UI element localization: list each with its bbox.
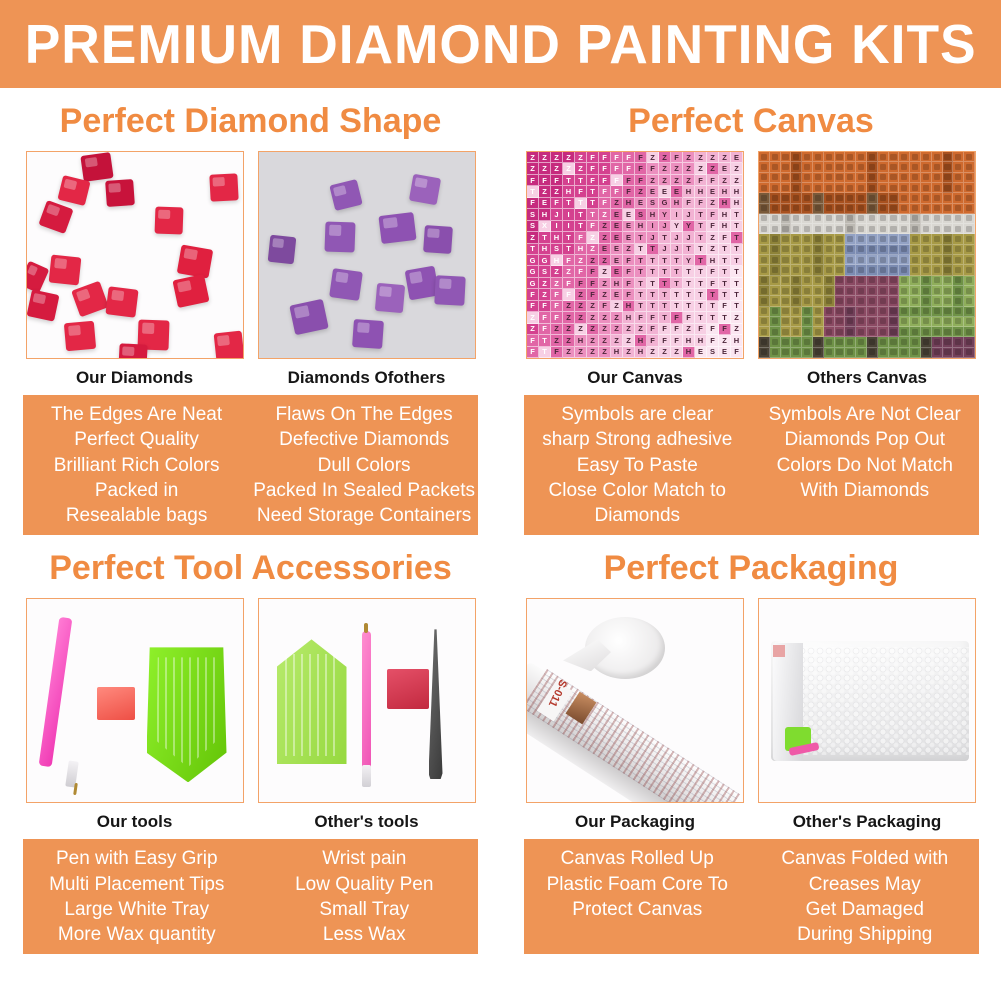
canvas-pixel-cell — [835, 327, 846, 337]
canvas-symbol-cell: T — [575, 175, 587, 186]
drill-gem — [26, 289, 59, 321]
canvas-symbol-cell: H — [575, 335, 587, 346]
canvas-pixel-cell — [835, 204, 846, 214]
section-title-canvas: Perfect Canvas — [501, 102, 1001, 141]
notes-other-tools: Wrist painLow Quality PenSmall TrayLess … — [251, 846, 479, 947]
canvas-pixel-cell — [824, 307, 835, 317]
canvas-pixel-cell — [813, 234, 824, 244]
canvas-pixel-cell — [932, 193, 943, 203]
canvas-pixel-cell — [889, 173, 900, 183]
canvas-symbol-cell: F — [575, 278, 587, 289]
canvas-pixel-cell — [867, 234, 878, 244]
canvas-pixel-cell — [824, 337, 835, 347]
canvas-symbol-cell: F — [575, 266, 587, 277]
canvas-pixel-cell — [953, 348, 964, 358]
canvas-pixel-cell — [964, 348, 975, 358]
canvas-symbol-cell: J — [671, 244, 683, 255]
canvas-symbol-cell: T — [731, 289, 743, 300]
cell-others-canvas: Others Canvas — [758, 151, 976, 395]
canvas-symbol-cell: T — [683, 289, 695, 300]
canvas-pixel-cell — [899, 307, 910, 317]
canvas-pixel-cell — [878, 204, 889, 214]
canvas-pixel-cell — [802, 162, 813, 172]
canvas-pixel-cell — [943, 193, 954, 203]
notebox-canvas: Symbols are clearsharp Strong adhesiveEa… — [524, 395, 979, 535]
canvas-pixel-cell — [932, 265, 943, 275]
canvas-symbol-cell: T — [563, 244, 575, 255]
canvas-pixel-cell — [856, 276, 867, 286]
canvas-symbol-cell: T — [563, 198, 575, 209]
canvas-pixel-cell — [845, 214, 856, 224]
canvas-symbol-cell: H — [731, 186, 743, 197]
canvas-symbol-cell: S — [539, 266, 551, 277]
canvas-symbol-cell: T — [719, 278, 731, 289]
canvas-symbol-cell: T — [683, 266, 695, 277]
note-line: Close Color Match to — [527, 478, 749, 503]
canvas-pixel-cell — [813, 348, 824, 358]
canvas-pixel-cell — [910, 255, 921, 265]
canvas-symbol-cell: T — [683, 278, 695, 289]
canvas-pixel-cell — [802, 214, 813, 224]
canvas-symbol-cell: F — [707, 209, 719, 220]
section-diamond-shape: Perfect Diamond Shape Our Diamonds Diamo… — [0, 88, 501, 535]
canvas-pixel-cell — [878, 214, 889, 224]
canvas-pixel-cell — [899, 214, 910, 224]
canvas-pixel-cell — [824, 276, 835, 286]
canvas-symbol-cell: F — [695, 198, 707, 209]
canvas-symbol-cell: J — [683, 209, 695, 220]
canvas-symbol-cell: T — [575, 221, 587, 232]
canvas-symbol-cell: Z — [599, 335, 611, 346]
canvas-pixel-cell — [932, 245, 943, 255]
canvas-pixel-cell — [770, 162, 781, 172]
canvas-pixel-cell — [856, 327, 867, 337]
canvas-pixel-cell — [910, 286, 921, 296]
canvas-pixel-cell — [802, 245, 813, 255]
canvas-pixel-cell — [953, 204, 964, 214]
canvas-symbol-cell: I — [647, 221, 659, 232]
canvas-symbol-cell: T — [635, 301, 647, 312]
canvas-pixel-cell — [964, 152, 975, 162]
canvas-symbol-cell: T — [719, 266, 731, 277]
canvas-pixel-cell — [856, 296, 867, 306]
canvas-pixel-cell — [835, 296, 846, 306]
canvas-pixel-cell — [953, 317, 964, 327]
canvas-symbol-cell: E — [719, 163, 731, 174]
canvas-symbol-cell: H — [647, 209, 659, 220]
canvas-symbol-cell: T — [635, 244, 647, 255]
canvas-pixel-cell — [878, 276, 889, 286]
canvas-pixel-cell — [953, 224, 964, 234]
canvas-symbol-cell: H — [719, 198, 731, 209]
canvas-symbol-cell: I — [563, 209, 575, 220]
canvas-pixel-cell — [802, 255, 813, 265]
canvas-symbol-cell: F — [719, 301, 731, 312]
note-line: Diamonds — [527, 503, 749, 528]
our-tools-photo — [26, 598, 244, 803]
canvas-pixel-cell — [813, 265, 824, 275]
canvas-pixel-cell — [845, 255, 856, 265]
canvas-pixel-cell — [932, 204, 943, 214]
canvas-pixel-cell — [964, 337, 975, 347]
canvas-pixel-cell — [889, 183, 900, 193]
notes-others-packaging: Canvas Folded withCreases MayGet Damaged… — [751, 846, 979, 947]
canvas-symbol-cell: E — [659, 186, 671, 197]
photo-pair-tools: Our tools Other's t — [0, 598, 501, 839]
canvas-pixel-cell — [964, 317, 975, 327]
canvas-pixel-cell — [856, 193, 867, 203]
canvas-symbol-cell: Z — [623, 335, 635, 346]
canvas-symbol-cell: F — [587, 175, 599, 186]
canvas-pixel-cell — [770, 348, 781, 358]
canvas-pixel-cell — [921, 348, 932, 358]
canvas-pixel-cell — [932, 337, 943, 347]
canvas-symbol-cell: H — [731, 335, 743, 346]
canvas-symbol-cell: H — [731, 198, 743, 209]
note-line: Defective Diamonds — [253, 427, 475, 452]
drill-gem — [105, 179, 135, 207]
canvas-symbol-cell: Z — [695, 163, 707, 174]
canvas-symbol-cell: F — [551, 347, 563, 358]
canvas-symbol-cell: Z — [539, 163, 551, 174]
canvas-pixel-cell — [835, 348, 846, 358]
canvas-symbol-cell: Z — [731, 163, 743, 174]
canvas-symbol-cell: H — [671, 198, 683, 209]
notebox-diamond-shape: The Edges Are NeatPerfect QualityBrillia… — [23, 395, 478, 535]
canvas-pixel-cell — [835, 337, 846, 347]
canvas-pixel-cell — [845, 276, 856, 286]
canvas-pixel-cell — [824, 327, 835, 337]
canvas-symbol-cell: F — [635, 312, 647, 323]
canvas-pixel-cell — [759, 214, 770, 224]
canvas-pixel-cell — [813, 245, 824, 255]
cell-other-tools: Other's tools — [258, 598, 476, 839]
canvas-pixel-cell — [867, 224, 878, 234]
canvas-pixel-cell — [943, 162, 954, 172]
canvas-pixel-cell — [856, 286, 867, 296]
canvas-symbol-cell: Z — [527, 324, 539, 335]
canvas-pixel-cell — [759, 152, 770, 162]
canvas-symbol-cell: Z — [563, 347, 575, 358]
canvas-symbol-cell: T — [647, 266, 659, 277]
canvas-pixel-cell — [791, 286, 802, 296]
canvas-pixel-cell — [802, 193, 813, 203]
canvas-symbol-cell: T — [695, 278, 707, 289]
canvas-symbol-cell: T — [539, 335, 551, 346]
canvas-symbol-cell: F — [707, 175, 719, 186]
canvas-symbol-cell: Z — [539, 278, 551, 289]
canvas-symbol-cell: T — [671, 289, 683, 300]
canvas-pixel-cell — [759, 317, 770, 327]
canvas-pixel-cell — [845, 327, 856, 337]
canvas-pixel-cell — [921, 327, 932, 337]
canvas-pixel-cell — [899, 327, 910, 337]
canvas-symbol-cell: Z — [599, 324, 611, 335]
drill-gem — [423, 225, 453, 254]
canvas-symbol-cell: F — [599, 152, 611, 163]
pink-drill-pen-icon — [38, 617, 72, 767]
canvas-pixel-cell — [845, 265, 856, 275]
drill-gem — [154, 207, 183, 235]
canvas-symbol-cell: E — [719, 347, 731, 358]
canvas-symbol-cell: Z — [707, 244, 719, 255]
canvas-symbol-cell: Z — [659, 175, 671, 186]
canvas-pixel-cell — [802, 204, 813, 214]
canvas-pixel-cell — [910, 317, 921, 327]
canvas-pixel-cell — [889, 286, 900, 296]
canvas-pixel-cell — [878, 265, 889, 275]
canvas-pixel-cell — [759, 327, 770, 337]
canvas-symbol-cell: Z — [575, 152, 587, 163]
canvas-pixel-cell — [791, 317, 802, 327]
canvas-symbol-cell: H — [539, 244, 551, 255]
canvas-pixel-cell — [791, 296, 802, 306]
canvas-pixel-cell — [813, 214, 824, 224]
canvas-symbol-cell: T — [647, 244, 659, 255]
canvas-pixel-cell — [813, 327, 824, 337]
canvas-symbol-cell: T — [731, 255, 743, 266]
canvas-pixel-cell — [921, 193, 932, 203]
canvas-symbol-cell: F — [563, 255, 575, 266]
canvas-pixel-cell — [759, 337, 770, 347]
our-diamonds-photo — [26, 151, 244, 359]
canvas-pixel-cell — [953, 296, 964, 306]
canvas-symbol-cell: T — [539, 347, 551, 358]
canvas-symbol-cell: T — [659, 232, 671, 243]
canvas-symbol-cell: H — [707, 255, 719, 266]
canvas-symbol-cell: Z — [563, 163, 575, 174]
canvas-symbol-cell: T — [563, 232, 575, 243]
drill-gem — [352, 319, 384, 349]
section-canvas: Perfect Canvas ZZZZZFFFFFZZFZZZZEZZZZZFF… — [501, 88, 1001, 535]
canvas-pixel-cell — [932, 317, 943, 327]
canvas-pixel-cell — [835, 265, 846, 275]
canvas-pixel-cell — [889, 204, 900, 214]
canvas-pixel-cell — [791, 224, 802, 234]
canvas-symbol-cell: E — [611, 209, 623, 220]
drill-gem — [105, 286, 138, 317]
note-line: Protect Canvas — [527, 897, 749, 922]
rolled-tube-artwork: S-011 — [527, 599, 743, 802]
canvas-symbol-cell: T — [659, 289, 671, 300]
canvas-pixel-cell — [953, 265, 964, 275]
canvas-symbol-cell: Z — [527, 232, 539, 243]
canvas-symbol-cell: F — [551, 289, 563, 300]
canvas-pixel-cell — [791, 255, 802, 265]
notebox-packaging: Canvas Rolled UpPlastic Foam Core ToProt… — [524, 839, 979, 954]
canvas-pixel-cell — [770, 183, 781, 193]
canvas-pixel-cell — [932, 327, 943, 337]
canvas-symbol-cell: Z — [575, 347, 587, 358]
canvas-symbol-cell: T — [695, 255, 707, 266]
caption-our-diamonds: Our Diamonds — [26, 359, 244, 395]
caption-others-packaging: Other's Packaging — [758, 803, 976, 839]
canvas-pixel-cell — [953, 337, 964, 347]
purple-drills-artwork — [259, 152, 475, 358]
note-line: More Wax quantity — [26, 922, 248, 947]
note-line: Low Quality Pen — [254, 872, 476, 897]
canvas-pixel-cell — [770, 296, 781, 306]
canvas-pixel-cell — [835, 224, 846, 234]
canvas-pixel-cell — [845, 173, 856, 183]
canvas-symbol-cell: J — [683, 232, 695, 243]
canvas-pixel-cell — [878, 286, 889, 296]
canvas-symbol-cell: F — [587, 221, 599, 232]
canvas-symbol-cell: Z — [599, 255, 611, 266]
tweezers-icon — [429, 629, 443, 779]
canvas-pixel-cell — [943, 245, 954, 255]
canvas-pixel-cell — [802, 348, 813, 358]
canvas-pixel-cell — [770, 317, 781, 327]
canvas-symbol-cell: T — [695, 312, 707, 323]
canvas-pixel-cell — [910, 193, 921, 203]
canvas-pixel-cell — [964, 255, 975, 265]
canvas-pixel-cell — [781, 162, 792, 172]
canvas-symbol-cell: Z — [707, 163, 719, 174]
canvas-pixel-cell — [964, 245, 975, 255]
canvas-pixel-cell — [867, 276, 878, 286]
caption-our-tools: Our tools — [26, 803, 244, 839]
canvas-pixel-cell — [835, 162, 846, 172]
canvas-symbol-cell: E — [611, 289, 623, 300]
canvas-pixel-cell — [845, 296, 856, 306]
canvas-pixel-cell — [824, 255, 835, 265]
canvas-pixel-cell — [835, 255, 846, 265]
canvas-symbol-cell: E — [635, 198, 647, 209]
canvas-symbol-cell: Z — [551, 278, 563, 289]
notes-our-tools: Pen with Easy GripMulti Placement TipsLa… — [23, 846, 251, 947]
canvas-pixel-cell — [964, 276, 975, 286]
section-title-tools: Perfect Tool Accessories — [0, 549, 501, 588]
canvas-symbol-cell: S — [707, 347, 719, 358]
canvas-pixel-cell — [770, 193, 781, 203]
canvas-pixel-cell — [802, 296, 813, 306]
canvas-symbol-cell: F — [623, 255, 635, 266]
canvas-symbol-cell: F — [731, 347, 743, 358]
canvas-symbol-cell: F — [671, 335, 683, 346]
canvas-symbol-cell: Z — [635, 324, 647, 335]
other-tools-photo — [258, 598, 476, 803]
canvas-pixel-cell — [781, 276, 792, 286]
canvas-symbol-cell: F — [527, 198, 539, 209]
canvas-pixel-cell — [910, 152, 921, 162]
canvas-pixel-cell — [770, 245, 781, 255]
other-red-wax-icon — [387, 669, 429, 709]
canvas-pixel-cell — [856, 307, 867, 317]
canvas-symbol-cell: E — [623, 209, 635, 220]
note-line: Plastic Foam Core To — [527, 872, 749, 897]
drill-gem — [378, 212, 416, 244]
notes-others-canvas: Symbols Are Not ClearDiamonds Pop OutCol… — [751, 402, 979, 528]
canvas-pixel-cell — [856, 214, 867, 224]
canvas-symbol-cell: Z — [719, 335, 731, 346]
canvas-symbol-cell: E — [647, 186, 659, 197]
canvas-pixel-cell — [932, 152, 943, 162]
canvas-symbol-cell: F — [707, 266, 719, 277]
canvas-pixel-cell — [813, 286, 824, 296]
canvas-pixel-cell — [921, 265, 932, 275]
canvas-pixel-cell — [878, 337, 889, 347]
canvas-pixel-cell — [889, 337, 900, 347]
canvas-pixel-cell — [759, 204, 770, 214]
canvas-symbol-cell: F — [623, 186, 635, 197]
canvas-pixel-cell — [878, 348, 889, 358]
canvas-pixel-cell — [899, 265, 910, 275]
canvas-symbol-cell: F — [587, 152, 599, 163]
canvas-symbol-cell: F — [683, 312, 695, 323]
caption-our-canvas: Our Canvas — [526, 359, 744, 395]
canvas-pixel-cell — [802, 286, 813, 296]
notes-our-canvas: Symbols are clearsharp Strong adhesiveEa… — [524, 402, 752, 528]
canvas-pixel-cell — [835, 276, 846, 286]
canvas-symbol-cell: Z — [635, 186, 647, 197]
canvas-pixel-cell — [867, 193, 878, 203]
canvas-symbol-cell: E — [623, 221, 635, 232]
canvas-symbol-cell: F — [599, 301, 611, 312]
canvas-pixel-cell — [813, 162, 824, 172]
canvas-symbol-cell: J — [551, 209, 563, 220]
canvas-symbol-cell: Z — [719, 175, 731, 186]
canvas-symbol-cell: T — [731, 232, 743, 243]
canvas-symbol-cell: H — [635, 335, 647, 346]
canvas-symbol-cell: H — [623, 312, 635, 323]
canvas-pixel-cell — [856, 245, 867, 255]
canvas-pixel-cell — [921, 255, 932, 265]
canvas-symbol-cell: Z — [707, 232, 719, 243]
canvas-symbol-cell: H — [719, 221, 731, 232]
canvas-pixel-cell — [943, 317, 954, 327]
canvas-symbol-cell: H — [695, 335, 707, 346]
canvas-symbol-cell: F — [623, 163, 635, 174]
canvas-symbol-cell: E — [539, 198, 551, 209]
canvas-pixel-cell — [770, 337, 781, 347]
canvas-pixel-cell — [899, 286, 910, 296]
canvas-symbol-cell: T — [539, 232, 551, 243]
canvas-pixel-cell — [943, 204, 954, 214]
canvas-pixel-cell — [867, 162, 878, 172]
canvas-pixel-cell — [856, 204, 867, 214]
canvas-pixel-cell — [910, 234, 921, 244]
canvas-pixel-cell — [867, 265, 878, 275]
canvas-pixel-cell — [953, 255, 964, 265]
canvas-pixel-cell — [910, 183, 921, 193]
canvas-symbol-cell: J — [671, 232, 683, 243]
canvas-symbol-cell: F — [623, 266, 635, 277]
section-tools: Perfect Tool Accessories — [0, 535, 501, 954]
canvas-symbol-cell: F — [599, 163, 611, 174]
canvas-symbol-cell: E — [611, 221, 623, 232]
note-line: Resealable bags — [26, 503, 247, 528]
canvas-pixel-cell — [835, 183, 846, 193]
canvas-symbol-cell: T — [527, 186, 539, 197]
canvas-pixel-cell — [781, 204, 792, 214]
canvas-symbol-cell: F — [623, 278, 635, 289]
canvas-pixel-cell — [791, 234, 802, 244]
canvas-pixel-cell — [770, 255, 781, 265]
drill-gem — [63, 321, 95, 352]
our-canvas-photo: ZZZZZFFFFFZZFZZZZEZZZZZFFFFFFZZZZZEZFFFT… — [526, 151, 744, 359]
canvas-pixel-cell — [910, 173, 921, 183]
canvas-symbol-cell: H — [719, 209, 731, 220]
canvas-symbol-cell: Z — [527, 312, 539, 323]
canvas-symbol-cell: Z — [587, 244, 599, 255]
canvas-pixel-cell — [943, 265, 954, 275]
canvas-symbol-cell: H — [635, 221, 647, 232]
note-line: Dull Colors — [253, 453, 475, 478]
note-line: Creases May — [754, 872, 976, 897]
note-line: Symbols are clear — [527, 402, 749, 427]
canvas-pixel-cell — [770, 173, 781, 183]
